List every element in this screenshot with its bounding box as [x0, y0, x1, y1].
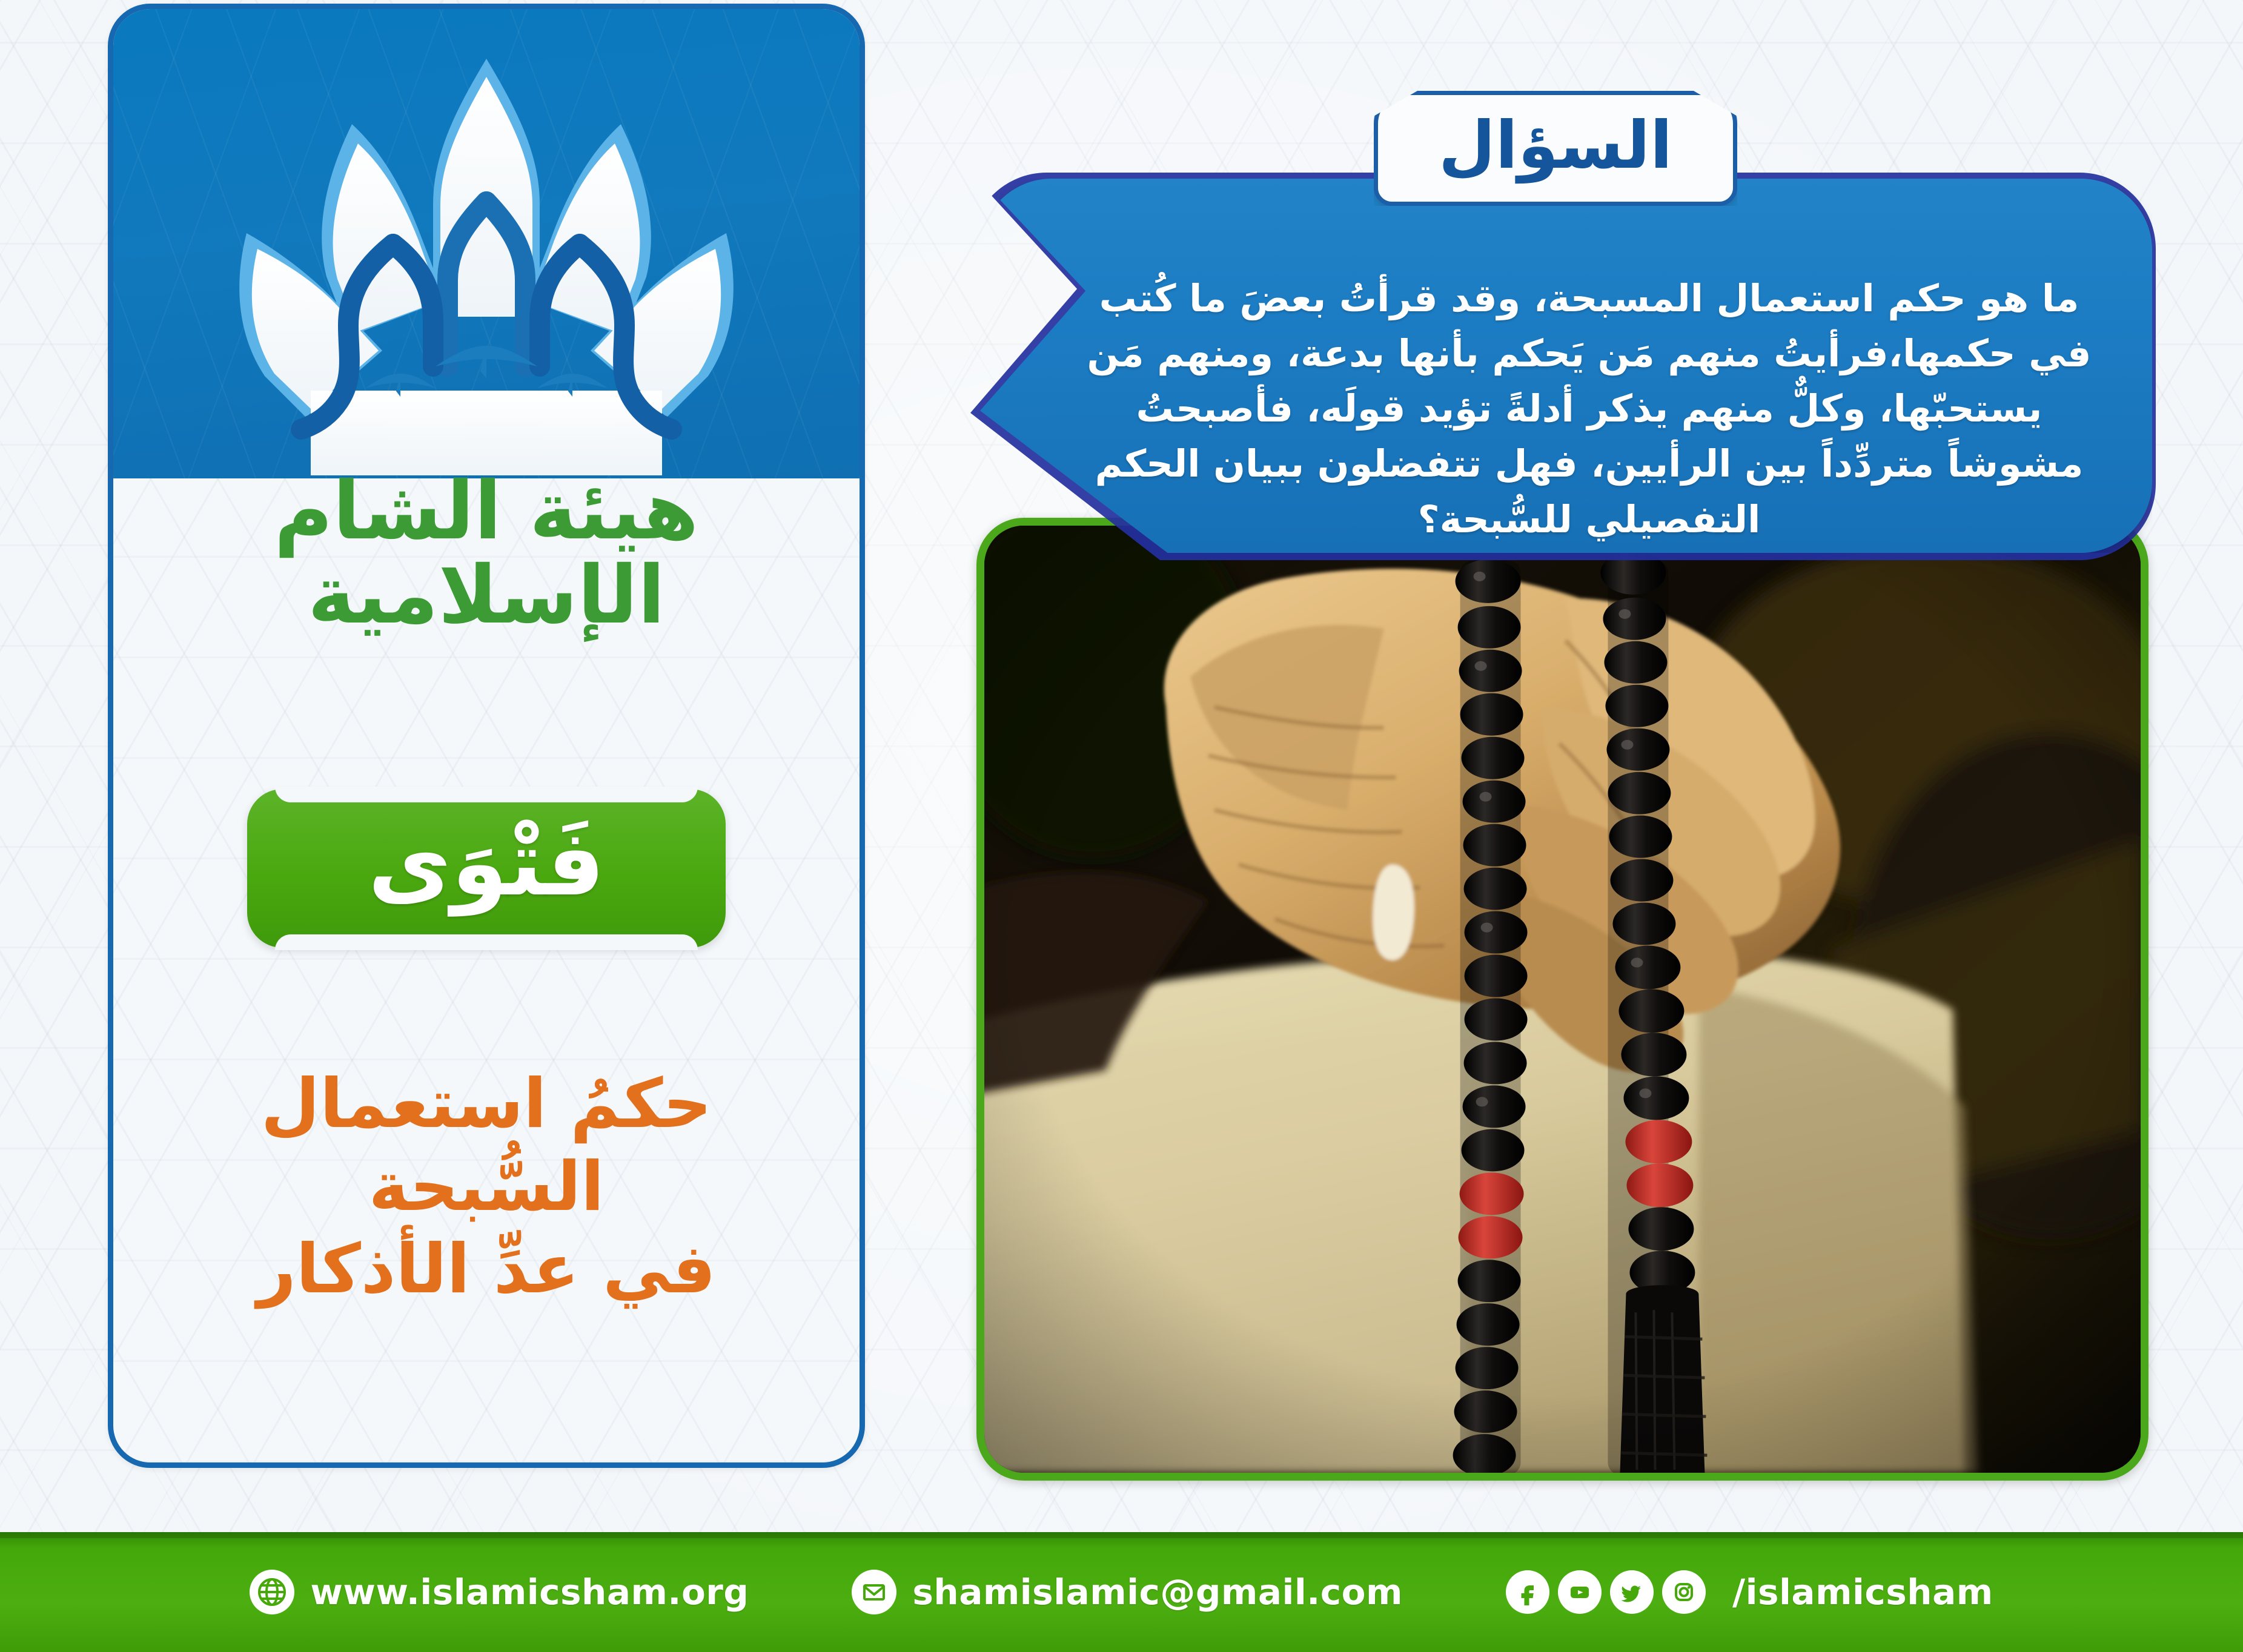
youtube-icon[interactable]	[1558, 1570, 1602, 1614]
footer-email[interactable]: shamislamic@gmail.com	[852, 1570, 1403, 1614]
prayer-beads-photo	[984, 526, 2141, 1473]
instagram-icon[interactable]	[1662, 1570, 1706, 1614]
prayer-beads-photo-frame	[976, 518, 2149, 1481]
footer-bar: www.islamicsham.org shamislamic@gmail.co…	[0, 1532, 2243, 1652]
question-panel: ما هو حكم استعمال المسبحة، وقد قرأتُ بعض…	[980, 179, 2152, 553]
twitter-icon[interactable]	[1610, 1570, 1654, 1614]
envelope-icon	[852, 1570, 896, 1614]
sidebar-card: هيئة الشام الإسلامية فَتْوَى حكمُ استعما…	[108, 4, 865, 1468]
footer-email-label: shamislamic@gmail.com	[912, 1571, 1403, 1613]
fatwa-title-line-2: في عدِّ الأذكار	[151, 1228, 822, 1311]
fatwa-badge: فَتْوَى	[247, 789, 726, 948]
facebook-icon[interactable]	[1506, 1570, 1549, 1614]
question-badge: السؤال	[1374, 91, 1737, 206]
fatwa-title: حكمُ استعمال السُّبحة في عدِّ الأذكار	[151, 1063, 822, 1311]
social-icon-group[interactable]	[1506, 1570, 1706, 1614]
question-text: ما هو حكم استعمال المسبحة، وقد قرأتُ بعض…	[1082, 271, 2096, 547]
fatwa-badge-label: فَتْوَى	[368, 818, 605, 919]
footer-social-handle: /islamicsham	[1732, 1571, 1993, 1613]
globe-icon	[250, 1570, 294, 1614]
footer-social[interactable]: /islamicsham	[1506, 1570, 1993, 1614]
footer-website[interactable]: www.islamicsham.org	[250, 1570, 749, 1614]
organization-logo-icon	[220, 51, 753, 475]
footer-website-label: www.islamicsham.org	[310, 1571, 749, 1613]
question-badge-label: السؤال	[1439, 113, 1672, 183]
organization-name: هيئة الشام الإسلامية	[113, 469, 860, 637]
fatwa-title-line-1: حكمُ استعمال السُّبحة	[151, 1063, 822, 1228]
